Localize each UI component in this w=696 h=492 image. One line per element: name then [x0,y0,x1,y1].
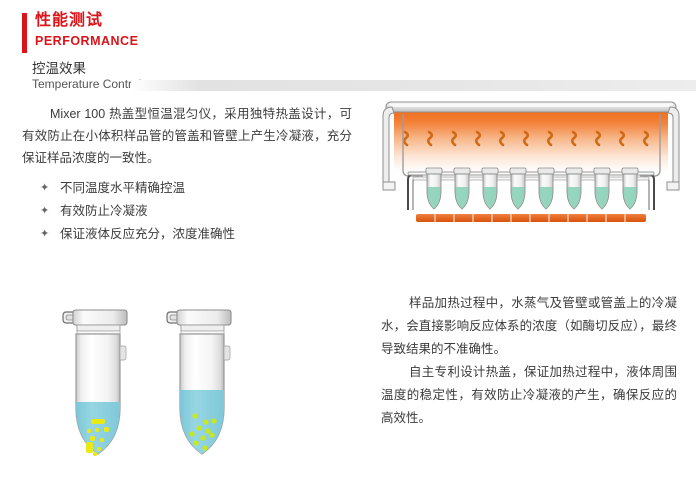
list-item: ✦ 有效防止冷凝液 [22,200,352,223]
page-subtitle: PERFORMANCE [35,33,138,49]
section-title-en: Temperature Control [32,77,141,92]
feature-list: ✦ 不同温度水平精确控温 ✦ 有效防止冷凝液 ✦ 保证液体反应充分，浓度准确性 [22,177,352,246]
body-paragraph-1: 样品加热过程中，水蒸气及管壁或管盖上的冷凝水，会直接影响反应体系的浓度（如酶切反… [381,292,677,361]
right-tube [167,310,231,460]
list-item-label: 保证液体反应充分，浓度准确性 [60,227,235,241]
bullet-icon: ✦ [40,200,49,223]
bullet-icon: ✦ [40,223,49,246]
list-item: ✦ 不同温度水平精确控温 [22,177,352,200]
bullet-icon: ✦ [40,177,49,200]
heated-lid-incubator-diagram [372,96,690,231]
list-item: ✦ 保证液体反应充分，浓度准确性 [22,223,352,246]
left-tube [63,310,127,460]
page-title: 性能测试 [35,10,103,32]
list-item-label: 有效防止冷凝液 [60,204,148,218]
list-item-label: 不同温度水平精确控温 [60,181,185,195]
intro-text-block: Mixer 100 热盖型恒温混匀仪，采用独特热盖设计，可有效防止在小体积样品管… [22,103,352,246]
heating-block [416,214,646,222]
body-paragraph-2: 自主专利设计热盖，保证加热过程中，液体周围温度的稳定性，有效防止冷凝液的产生，确… [381,361,677,430]
header-accent-bar [22,13,27,53]
section-divider-bar [131,80,696,91]
intro-paragraph: Mixer 100 热盖型恒温混匀仪，采用独特热盖设计，可有效防止在小体积样品管… [22,103,352,169]
page-header: 性能测试 PERFORMANCE [0,0,696,58]
sample-tube-comparison-diagram [62,302,262,487]
body-text-block: 样品加热过程中，水蒸气及管壁或管盖上的冷凝水，会直接影响反应体系的浓度（如酶切反… [381,292,677,430]
section-title-cn: 控温效果 [32,60,86,78]
